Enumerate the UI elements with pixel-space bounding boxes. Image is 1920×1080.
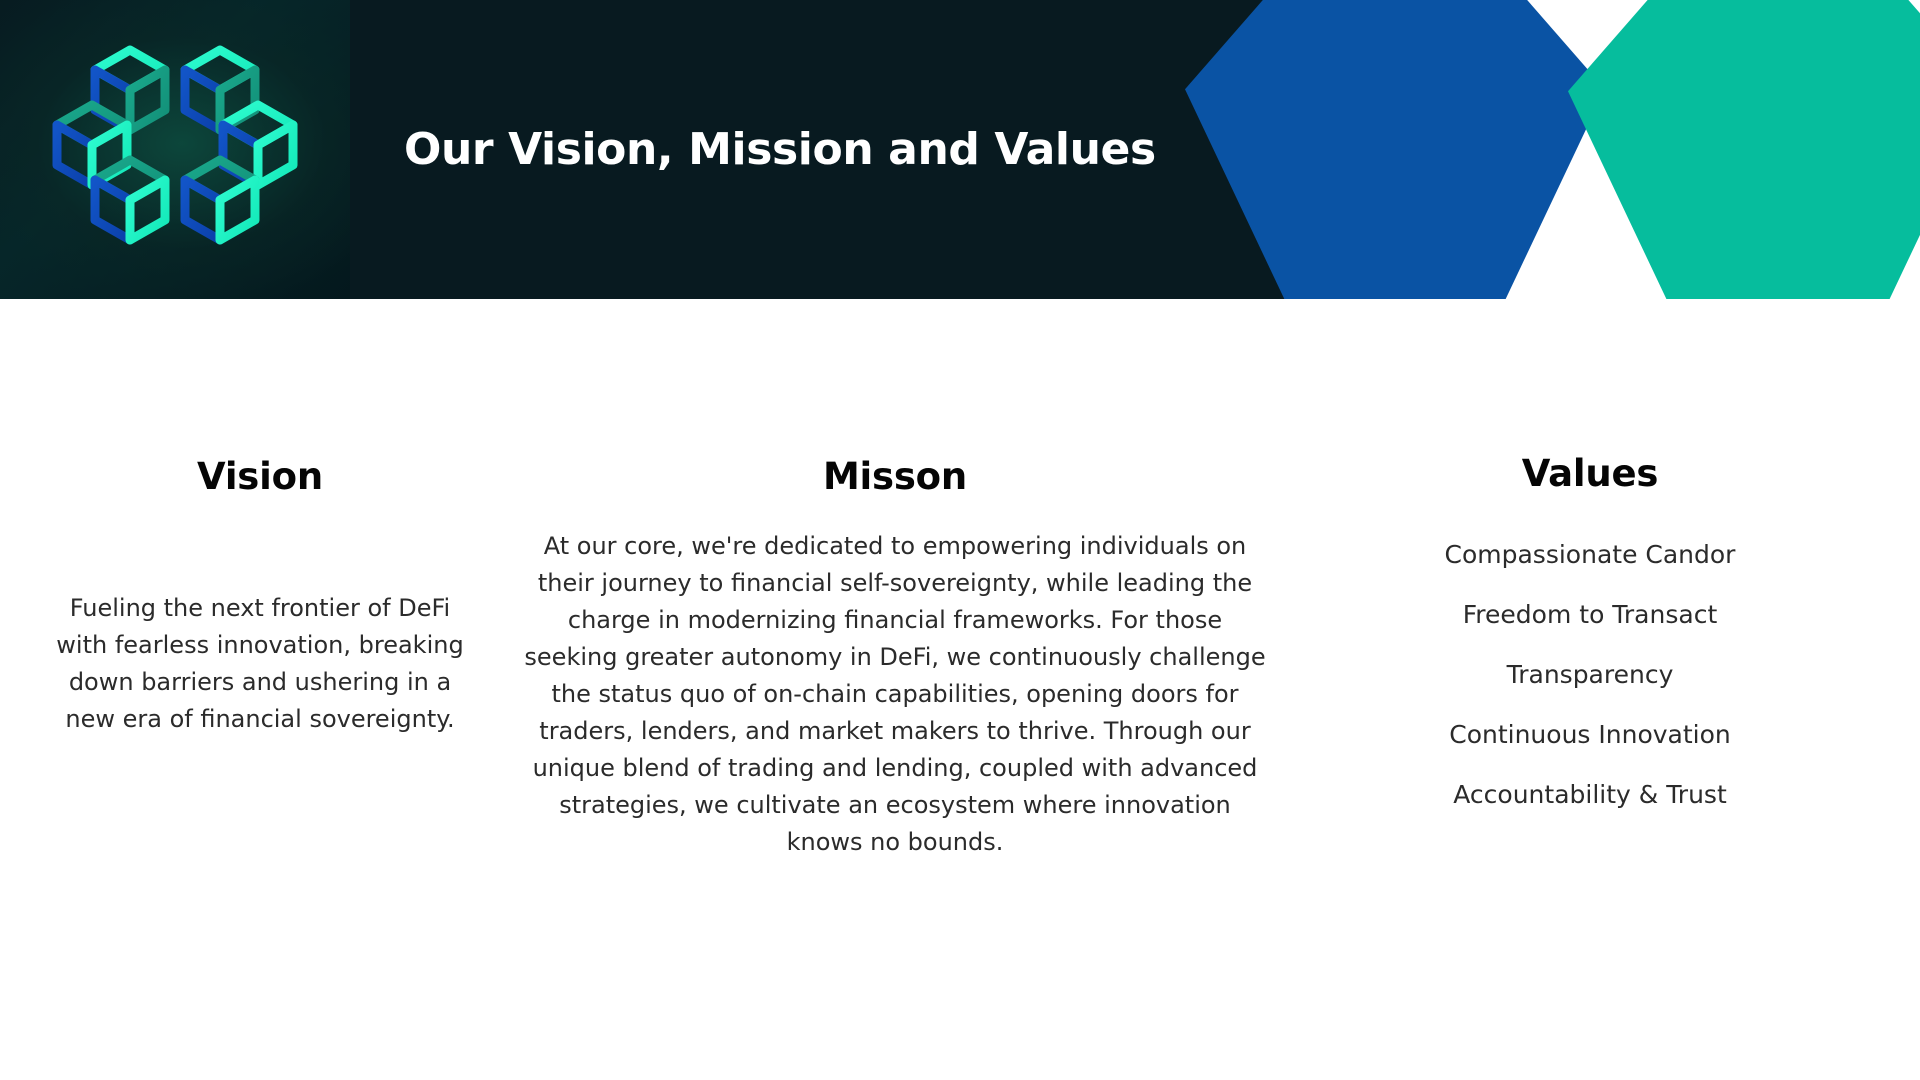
decor-hexagon-teal [1568, 0, 1920, 299]
logo-panel [0, 0, 350, 299]
page-title: Our Vision, Mission and Values [404, 0, 1156, 299]
list-item: Compassionate Candor [1380, 525, 1800, 585]
mission-body: At our core, we're dedicated to empoweri… [515, 528, 1275, 861]
column-values: Values Compassionate Candor Freedom to T… [1380, 299, 1800, 825]
column-mission: Misson At our core, we're dedicated to e… [515, 299, 1275, 861]
list-item: Accountability & Trust [1380, 765, 1800, 825]
mission-heading: Misson [515, 457, 1275, 498]
column-vision: Vision Fueling the next frontier of DeFi… [30, 299, 490, 738]
vision-body: Fueling the next frontier of DeFi with f… [30, 590, 490, 738]
values-list: Compassionate Candor Freedom to Transact… [1380, 525, 1800, 825]
list-item: Freedom to Transact [1380, 585, 1800, 645]
slide-root: Our Vision, Mission and Values Vision Fu… [0, 0, 1920, 1080]
list-item: Transparency [1380, 645, 1800, 705]
content-area: Vision Fueling the next frontier of DeFi… [0, 299, 1920, 1080]
values-heading: Values [1380, 454, 1800, 495]
isometric-cubes-logo-icon [25, 15, 325, 285]
list-item: Continuous Innovation [1380, 705, 1800, 765]
vision-heading: Vision [30, 457, 490, 498]
header-band: Our Vision, Mission and Values [0, 0, 1920, 299]
